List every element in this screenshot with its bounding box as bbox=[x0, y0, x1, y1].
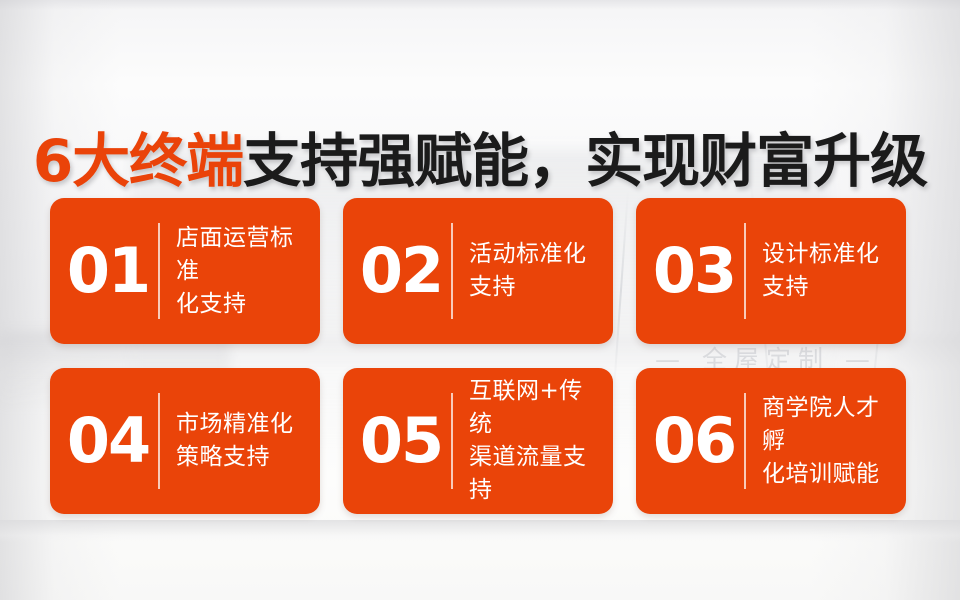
card-divider bbox=[744, 393, 746, 489]
card-divider bbox=[451, 223, 453, 319]
feature-card-02[interactable]: 02 活动标准化 支持 bbox=[343, 198, 613, 344]
page-title-main: 支持强赋能，实现财富升级 bbox=[243, 127, 927, 195]
feature-card-01[interactable]: 01 店面运营标准 化支持 bbox=[50, 198, 320, 344]
card-label: 设计标准化 支持 bbox=[762, 238, 906, 304]
card-divider bbox=[158, 223, 160, 319]
feature-card-03[interactable]: 03 设计标准化 支持 bbox=[636, 198, 906, 344]
feature-card-06[interactable]: 06 商学院人才孵 化培训赋能 bbox=[636, 368, 906, 514]
card-label: 互联网+传统 渠道流量支持 bbox=[469, 375, 613, 507]
card-divider bbox=[451, 393, 453, 489]
poster-canvas: — 全屋定制 — 6大终端支持强赋能，实现财富升级 01 店面运营标准 化支持 … bbox=[0, 0, 960, 600]
feature-card-04[interactable]: 04 市场精准化 策略支持 bbox=[50, 368, 320, 514]
card-label: 店面运营标准 化支持 bbox=[176, 222, 320, 321]
card-number: 02 bbox=[355, 240, 447, 302]
background-floor-band bbox=[0, 520, 960, 542]
card-number: 06 bbox=[648, 410, 740, 472]
card-label: 商学院人才孵 化培训赋能 bbox=[762, 392, 906, 491]
feature-card-05[interactable]: 05 互联网+传统 渠道流量支持 bbox=[343, 368, 613, 514]
background-top-streak bbox=[0, 0, 960, 10]
feature-card-grid: 01 店面运营标准 化支持 02 活动标准化 支持 03 设计标准化 支持 04… bbox=[50, 198, 906, 514]
card-number: 04 bbox=[62, 410, 154, 472]
card-label: 市场精准化 策略支持 bbox=[176, 408, 320, 474]
card-divider bbox=[158, 393, 160, 489]
page-title: 6大终端支持强赋能，实现财富升级 bbox=[0, 125, 960, 197]
card-label: 活动标准化 支持 bbox=[469, 238, 613, 304]
card-number: 01 bbox=[62, 240, 154, 302]
card-number: 05 bbox=[355, 410, 447, 472]
card-divider bbox=[744, 223, 746, 319]
page-title-accent: 6大终端 bbox=[33, 127, 243, 195]
card-number: 03 bbox=[648, 240, 740, 302]
